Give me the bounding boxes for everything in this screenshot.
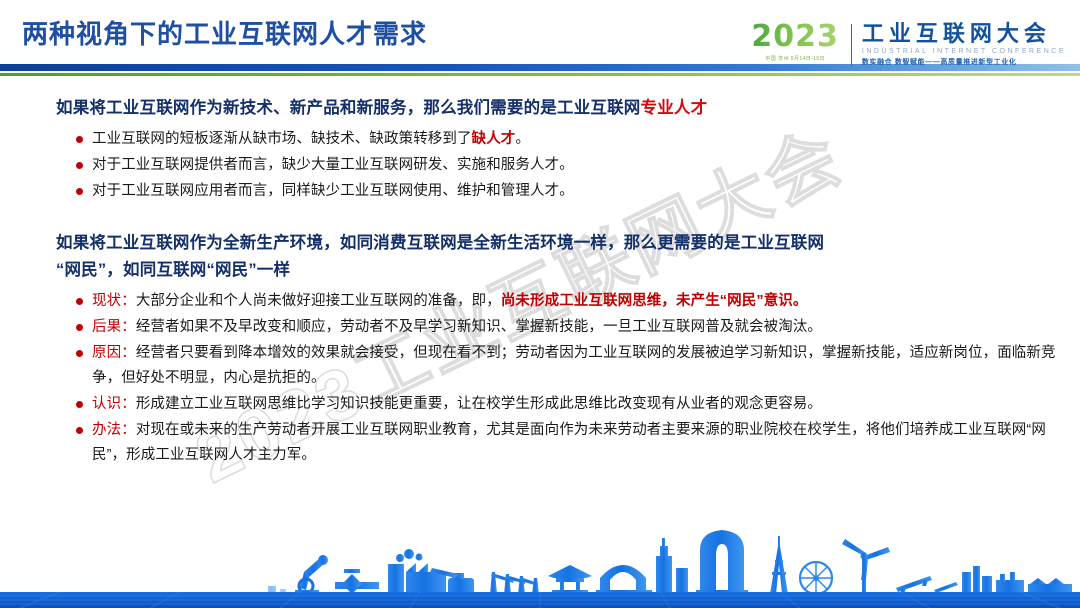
bullet-dot-icon [76,162,83,169]
bullet-item: 原因：经营者只要看到降本增效的效果就会接受，但现在看不到；劳动者因为工业互联网的… [0,341,1080,391]
heading-text: 如果将工业互联网作为全新生产环境，如同消费互联网是全新生活环境一样，那么更需要的… [56,234,824,252]
bullet-dot-icon [76,298,83,305]
section-heading-line: 如果将工业互联网作为全新生产环境，如同消费互联网是全新生活环境一样，那么更需要的… [0,231,1080,256]
bullet-label: 办法： [92,422,136,438]
bullet-text: 对于工业互联网应用者而言，同样缺少工业互联网使用、维护和管理人才。 [92,183,574,199]
bullet-item: 对于工业互联网提供者而言，缺少大量工业互联网研发、实施和服务人才。 [0,153,1080,178]
slide-canvas: 两种视角下的工业互联网人才需求 2023 中国·苏州 9月14日-16日 工业互… [0,0,1080,608]
bullet-label: 现状： [92,293,136,309]
section-gap [0,205,1080,231]
bullet-label: 原因： [92,345,136,361]
bullet-text: 经营者只要看到降本增效的效果就会接受，但现在看不到；劳动者因为工业互联网的发展被… [92,345,1056,386]
content-block: 如果将工业互联网作为全新生产环境，如同消费互联网是全新生活环境一样，那么更需要的… [0,231,1080,468]
page-title: 两种视角下的工业互联网人才需求 [22,14,427,51]
bullet-list: 现状：大部分企业和个人尚未做好迎接工业互联网的准备，即，尚未形成工业互联网思维，… [0,289,1080,468]
bullet-text: 对现在或未来的生产劳动者开展工业互联网职业教育，尤其是面向作为未来劳动者主要来源… [92,422,1046,463]
conference-logo: 2023 中国·苏州 9月14日-16日 工业互联网大会 INDUSTRIAL … [751,22,1066,74]
logo-english-name: INDUSTRIAL INTERNET CONFERENCE [862,48,1066,55]
bullet-emphasis: 尚未形成工业互联网思维，未产生“网民”意识。 [501,293,808,309]
skyline-silhouette [268,530,1072,595]
logo-year-block: 2023 中国·苏州 9月14日-16日 [751,22,851,62]
bullet-dot-icon [76,188,83,195]
heading-text: “网民”，如同互联网“网民”一样 [56,261,290,279]
logo-year-text: 2023 [751,22,839,52]
bullet-dot-icon [76,427,83,434]
heading-text: 如果将工业互联网作为新技术、新产品和新服务，那么我们需要的是工业互联网 [56,99,641,117]
section-heading-line: 如果将工业互联网作为新技术、新产品和新服务，那么我们需要的是工业互联网专业人才 [0,96,1080,121]
footer-skyline-graphic [0,516,1080,608]
logo-name-block: 工业互联网大会 INDUSTRIAL INTERNET CONFERENCE 数… [862,22,1066,67]
logo-date-text: 中国·苏州 9月14日-16日 [751,55,839,62]
bullet-text: 大部分企业和个人尚未做好迎接工业互联网的准备，即， [136,293,501,309]
bullet-item: 对于工业互联网应用者而言，同样缺少工业互联网使用、维护和管理人才。 [0,179,1080,204]
bullet-text: 经营者如果不及早改变和顺应，劳动者不及早学习新知识、掌握新技能，一旦工业互联网普… [136,319,822,335]
logo-divider-line [851,24,852,66]
bullet-dot-icon [76,324,83,331]
bullet-text: 对于工业互联网提供者而言，缺少大量工业互联网研发、实施和服务人才。 [92,157,574,173]
bullet-label: 后果： [92,319,136,335]
bullet-dot-icon [76,350,83,357]
section-heading-line: “网民”，如同互联网“网民”一样 [0,258,1080,283]
bullet-text: 工业互联网的短板逐渐从缺市场、缺技术、缺政策转移到了 [92,131,472,147]
bullet-text: 形成建立工业互联网思维比学习知识技能更重要，让在校学生形成此思维比改变现有从业者… [136,396,822,412]
bullet-item: 后果：经营者如果不及早改变和顺应，劳动者不及早学习新知识、掌握新技能，一旦工业互… [0,315,1080,340]
bullet-item: 工业互联网的短板逐渐从缺市场、缺技术、缺政策转移到了缺人才。 [0,127,1080,152]
heading-highlight: 专业人才 [641,99,708,117]
slide-content: 如果将工业互联网作为新技术、新产品和新服务，那么我们需要的是工业互联网专业人才工… [0,96,1080,469]
bullet-item: 现状：大部分企业和个人尚未做好迎接工业互联网的准备，即，尚未形成工业互联网思维，… [0,289,1080,314]
bullet-dot-icon [76,401,83,408]
slide-header: 两种视角下的工业互联网人才需求 2023 中国·苏州 9月14日-16日 工业互… [0,0,1080,88]
bullet-list: 工业互联网的短板逐渐从缺市场、缺技术、缺政策转移到了缺人才。对于工业互联网提供者… [0,127,1080,204]
bullet-label: 认识： [92,396,136,412]
bullet-item: 认识：形成建立工业互联网思维比学习知识技能更重要，让在校学生形成此思维比改变现有… [0,392,1080,417]
bullet-text: 。 [515,131,530,147]
bullet-dot-icon [76,136,83,143]
bullet-item: 办法：对现在或未来的生产劳动者开展工业互联网职业教育，尤其是面向作为未来劳动者主… [0,418,1080,468]
content-block: 如果将工业互联网作为新技术、新产品和新服务，那么我们需要的是工业互联网专业人才工… [0,96,1080,204]
logo-chinese-name: 工业互联网大会 [862,22,1066,46]
logo-slogan: 数实融合 数智赋能——高质量推进新型工业化 [862,57,1066,67]
bullet-emphasis: 缺人才 [472,131,516,147]
